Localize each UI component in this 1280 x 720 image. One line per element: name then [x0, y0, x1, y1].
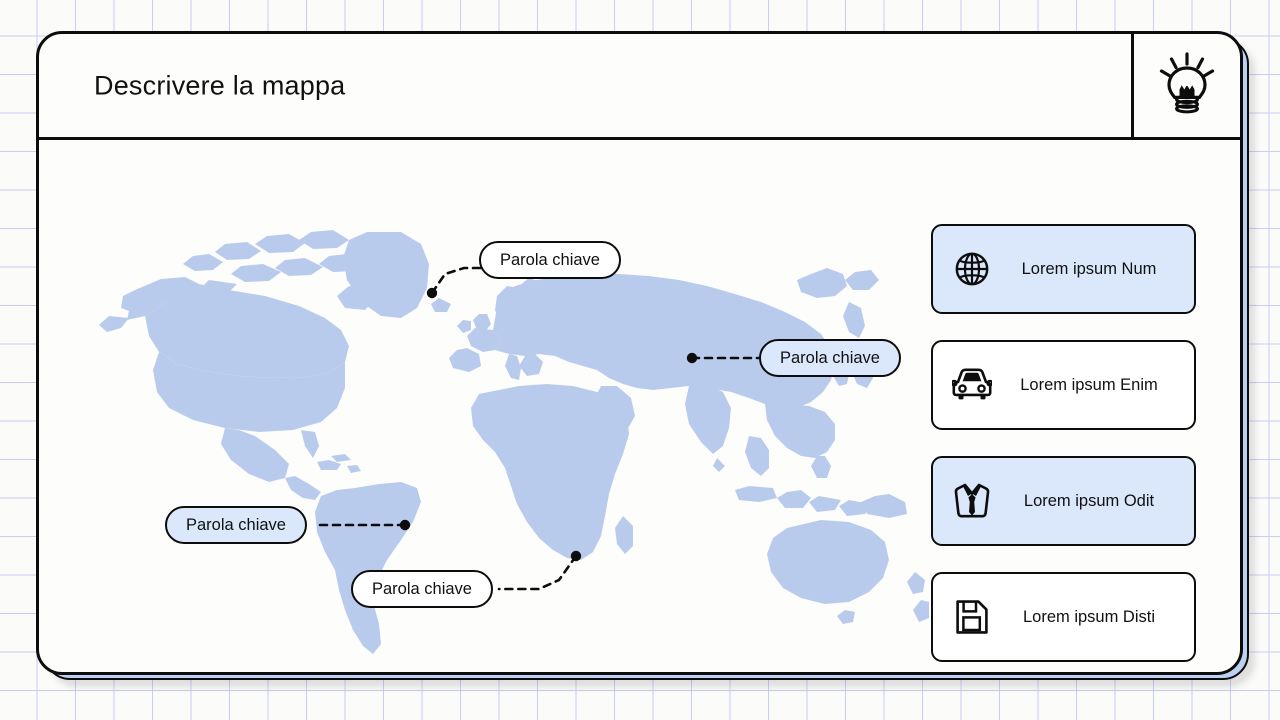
info-card-label: Lorem ipsum Enim [994, 376, 1194, 395]
shirt-tie-icon [950, 479, 994, 523]
map-callout-greenland[interactable]: Parola chiave [479, 241, 621, 279]
page-title: Descrivere la mappa [94, 70, 345, 101]
map-dot-siberia [687, 353, 697, 363]
header-icon-cell [1131, 34, 1240, 137]
lightbulb-icon [1159, 52, 1215, 119]
slide-canvas: Descrivere la mappa [0, 0, 1280, 720]
map-dot-pacific [400, 520, 410, 530]
map-callout-pacific[interactable]: Parola chiave [165, 506, 307, 544]
info-card-disti[interactable]: Lorem ipsum Disti [931, 572, 1196, 662]
map-dot-southafrica [571, 551, 581, 561]
info-card-num[interactable]: Lorem ipsum Num [931, 224, 1196, 314]
info-card-odit[interactable]: Lorem ipsum Odit [931, 456, 1196, 546]
info-card-label: Lorem ipsum Odit [994, 492, 1194, 511]
slide-body: Parola chiave Parola chiave Parola chiav… [39, 140, 1240, 672]
callout-label: Parola chiave [372, 580, 472, 599]
map-callout-siberia[interactable]: Parola chiave [759, 339, 901, 377]
map-landmasses [99, 230, 929, 654]
map-callout-southafrica[interactable]: Parola chiave [351, 570, 493, 608]
globe-icon [950, 247, 994, 291]
callout-label: Parola chiave [186, 516, 286, 535]
slide-panel: Descrivere la mappa [36, 31, 1243, 675]
callout-label: Parola chiave [500, 251, 600, 270]
floppy-disk-icon [950, 595, 994, 639]
info-card-list: Lorem ipsum Num [931, 224, 1196, 675]
callout-label: Parola chiave [780, 349, 880, 368]
info-card-enim[interactable]: Lorem ipsum Enim [931, 340, 1196, 430]
info-card-label: Lorem ipsum Num [994, 260, 1194, 279]
world-map: Parola chiave Parola chiave Parola chiav… [49, 140, 929, 672]
info-card-label: Lorem ipsum Disti [994, 608, 1194, 627]
car-icon [950, 363, 994, 407]
slide-header: Descrivere la mappa [39, 34, 1240, 140]
map-dot-greenland [427, 288, 437, 298]
